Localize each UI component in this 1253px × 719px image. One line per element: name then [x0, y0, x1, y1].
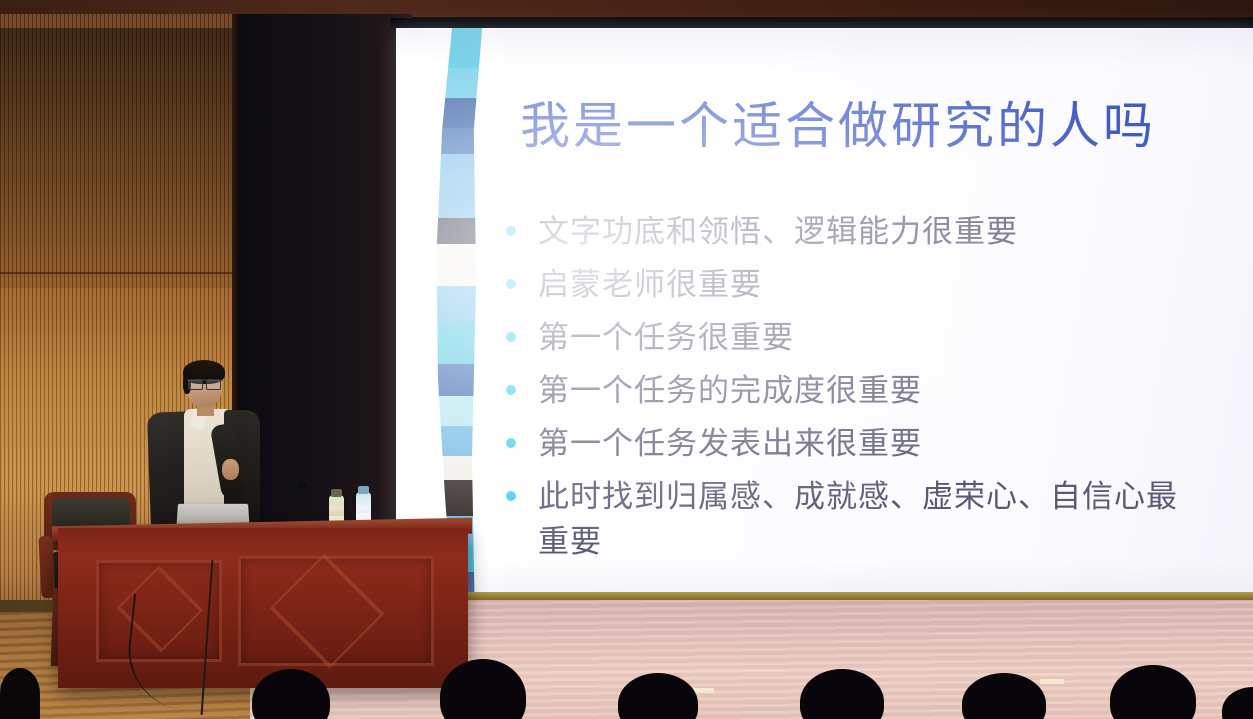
decorative-stripe-ribbon — [426, 28, 492, 594]
glasses-lens-right — [206, 379, 221, 390]
slide-bullet-item: 此时找到归属感、成就感、虚荣心、自信心最重要 — [506, 474, 1226, 564]
slide-bullet-item: 文字功底和领悟、逻辑能力很重要 — [506, 209, 1226, 254]
slide-bullet-list: 文字功底和领悟、逻辑能力很重要启蒙老师很重要第一个任务很重要第一个任务的完成度很… — [506, 209, 1226, 572]
bullet-dot-icon — [506, 279, 516, 289]
glasses-lens-left — [188, 379, 203, 390]
bullet-dot-icon — [506, 438, 516, 448]
speaker-hand — [222, 459, 239, 480]
slide-bullet-text: 第一个任务很重要 — [538, 315, 794, 360]
floor-paper-speck — [1040, 679, 1064, 684]
wall-seam — [0, 272, 236, 274]
slide-bullet-item: 第一个任务发表出来很重要 — [506, 421, 1226, 466]
slide-title: 我是一个适合做研究的人吗 — [520, 86, 1156, 158]
slide-bullet-text: 此时找到归属感、成就感、虚荣心、自信心最重要 — [538, 474, 1198, 564]
bullet-dot-icon — [506, 226, 516, 236]
foreground-head-left — [0, 668, 40, 719]
lecture-hall-photo: 我是一个适合做研究的人吗 文字功底和领悟、逻辑能力很重要启蒙老师很重要第一个任务… — [0, 0, 1253, 719]
projection-screen: 我是一个适合做研究的人吗 文字功底和领悟、逻辑能力很重要启蒙老师很重要第一个任务… — [396, 28, 1253, 594]
wall-shadow — [0, 28, 236, 288]
slide-bullet-item: 第一个任务很重要 — [506, 315, 1226, 360]
bullet-dot-icon — [506, 491, 516, 501]
ribbon-mask-right — [472, 28, 502, 594]
slide-bullet-text: 文字功底和领悟、逻辑能力很重要 — [538, 209, 1018, 254]
slide-bullet-text: 第一个任务的完成度很重要 — [538, 368, 922, 413]
water-bottle-cap — [358, 486, 369, 494]
bullet-dot-icon — [506, 385, 516, 395]
slide-bullet-item: 启蒙老师很重要 — [506, 262, 1226, 307]
slide-bullet-item: 第一个任务的完成度很重要 — [506, 368, 1226, 413]
tea-bottle-cap — [331, 489, 342, 497]
slide-bullet-text: 启蒙老师很重要 — [538, 262, 762, 307]
bullet-dot-icon — [506, 332, 516, 342]
gooseneck-mic-head — [298, 482, 307, 489]
slide-bullet-text: 第一个任务发表出来很重要 — [538, 421, 922, 466]
